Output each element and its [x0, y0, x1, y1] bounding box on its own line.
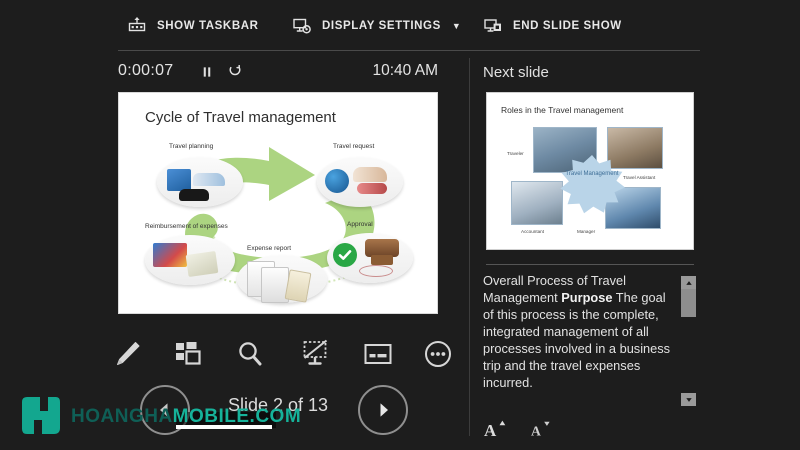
watermark: HOANGHAMOBILE.COM	[18, 392, 301, 440]
label-travel-request: Travel request	[333, 143, 374, 150]
next-slide-icon	[373, 400, 393, 420]
display-settings-button[interactable]: DISPLAY SETTINGS ▼	[291, 11, 461, 41]
watermark-text-dark: HOANGHA	[71, 406, 173, 427]
thumb-stamp-handle	[371, 255, 393, 265]
zoom-into-slide-button[interactable]	[226, 330, 274, 378]
pen-icon	[109, 337, 143, 371]
label-accountant: Accountant	[521, 229, 544, 234]
thumb-credit-cards	[153, 243, 187, 267]
see-all-slides-button[interactable]	[164, 330, 212, 378]
cycle-diagram: Travel planning Travel request Reimburse…	[119, 131, 438, 314]
watermark-text: HOANGHAMOBILE.COM	[71, 407, 301, 426]
notes-separator	[486, 264, 694, 265]
presenter-view: SHOW TASKBAR DISPLAY SETTINGS ▼	[0, 0, 800, 450]
notes-scrollbar[interactable]	[681, 276, 696, 406]
magnifier-icon	[233, 337, 267, 371]
timer-row: 0:00:07 10:40 AM	[118, 60, 438, 88]
thumb-airplane	[193, 173, 225, 186]
presenter-toolbar	[96, 330, 456, 378]
pause-icon	[201, 66, 213, 78]
black-screen-icon	[299, 337, 333, 371]
next-slide-heading: Next slide	[483, 64, 549, 81]
next-slide-thumbnail[interactable]: Roles in the Travel management Travel Ma…	[486, 92, 694, 250]
current-time: 10:40 AM	[373, 62, 439, 80]
scroll-up-icon[interactable]	[681, 276, 696, 289]
label-travel-planning: Travel planning	[169, 143, 213, 150]
thumb-paper-plane	[353, 167, 387, 182]
show-taskbar-button[interactable]: SHOW TASKBAR	[126, 11, 259, 41]
display-settings-icon	[291, 15, 313, 37]
slide-grid-icon	[171, 337, 205, 371]
more-options-icon	[421, 337, 455, 371]
watermark-underline	[176, 425, 272, 429]
photo-accountant	[511, 181, 563, 225]
restart-icon	[228, 65, 242, 79]
taskbar-icon	[126, 15, 148, 37]
check-icon	[337, 247, 353, 263]
notes-subheading: Purpose	[561, 290, 612, 305]
label-expense-report: Expense report	[247, 245, 291, 252]
thumb-cash	[186, 251, 219, 277]
label-travel-assistant: Travel Assistant	[623, 175, 655, 180]
end-slide-show-label: END SLIDE SHOW	[513, 20, 622, 32]
chevron-down-icon: ▼	[452, 21, 461, 31]
end-slide-show-button[interactable]: END SLIDE SHOW	[482, 11, 622, 41]
svg-text:A: A	[484, 421, 497, 440]
subtitles-icon	[361, 337, 395, 371]
label-traveler: Traveler	[507, 151, 524, 156]
label-reimbursement: Reimbursement of expenses	[145, 223, 228, 230]
next-slide-title: Roles in the Travel management	[501, 105, 623, 115]
thumb-globe	[325, 169, 349, 193]
panel-divider	[469, 58, 470, 436]
top-bar-divider	[118, 50, 700, 51]
label-manager: Manager	[577, 229, 595, 234]
hoanghamobile-logo-icon	[18, 394, 64, 438]
label-approval: Approval	[347, 221, 373, 228]
watermark-text-light: MOBILE.COM	[173, 406, 302, 427]
thumb-stamp-mark	[359, 265, 393, 277]
svg-text:A: A	[531, 423, 541, 438]
black-screen-button[interactable]	[292, 330, 340, 378]
next-slide-button[interactable]	[358, 385, 408, 435]
pen-tool-button[interactable]	[102, 330, 150, 378]
more-options-button[interactable]	[414, 330, 462, 378]
end-slideshow-icon	[482, 15, 504, 37]
notes-text: Overall Process of Travel Management Pur…	[483, 272, 679, 391]
scrollbar-thumb[interactable]	[681, 289, 696, 317]
slide-title: Cycle of Travel management	[145, 109, 336, 126]
pause-timer-button[interactable]	[196, 62, 218, 82]
increase-font-size-button[interactable]: A	[483, 418, 507, 440]
restart-timer-button[interactable]	[224, 62, 246, 82]
elapsed-timer: 0:00:07	[118, 62, 173, 80]
show-taskbar-label: SHOW TASKBAR	[157, 20, 259, 32]
center-star-label: Travel Management	[563, 171, 621, 179]
decrease-font-size-button[interactable]: A	[529, 418, 553, 440]
thumb-red-plane	[357, 183, 387, 194]
display-settings-label: DISPLAY SETTINGS	[322, 20, 441, 32]
photo-travel-assistant	[607, 127, 663, 169]
notes-font-size-controls: A A	[483, 418, 553, 442]
toggle-subtitles-button[interactable]	[354, 330, 402, 378]
presenter-top-bar: SHOW TASKBAR DISPLAY SETTINGS ▼	[0, 0, 800, 52]
current-slide-view[interactable]: Cycle of Travel management Travel planni…	[118, 92, 438, 314]
scroll-down-icon[interactable]	[681, 393, 696, 406]
speaker-notes-pane[interactable]: Overall Process of Travel Management Pur…	[483, 272, 679, 410]
thumb-suitcase	[167, 169, 191, 191]
notes-body-text: The goal of this process is the complete…	[483, 290, 670, 390]
thumb-car	[179, 189, 209, 201]
